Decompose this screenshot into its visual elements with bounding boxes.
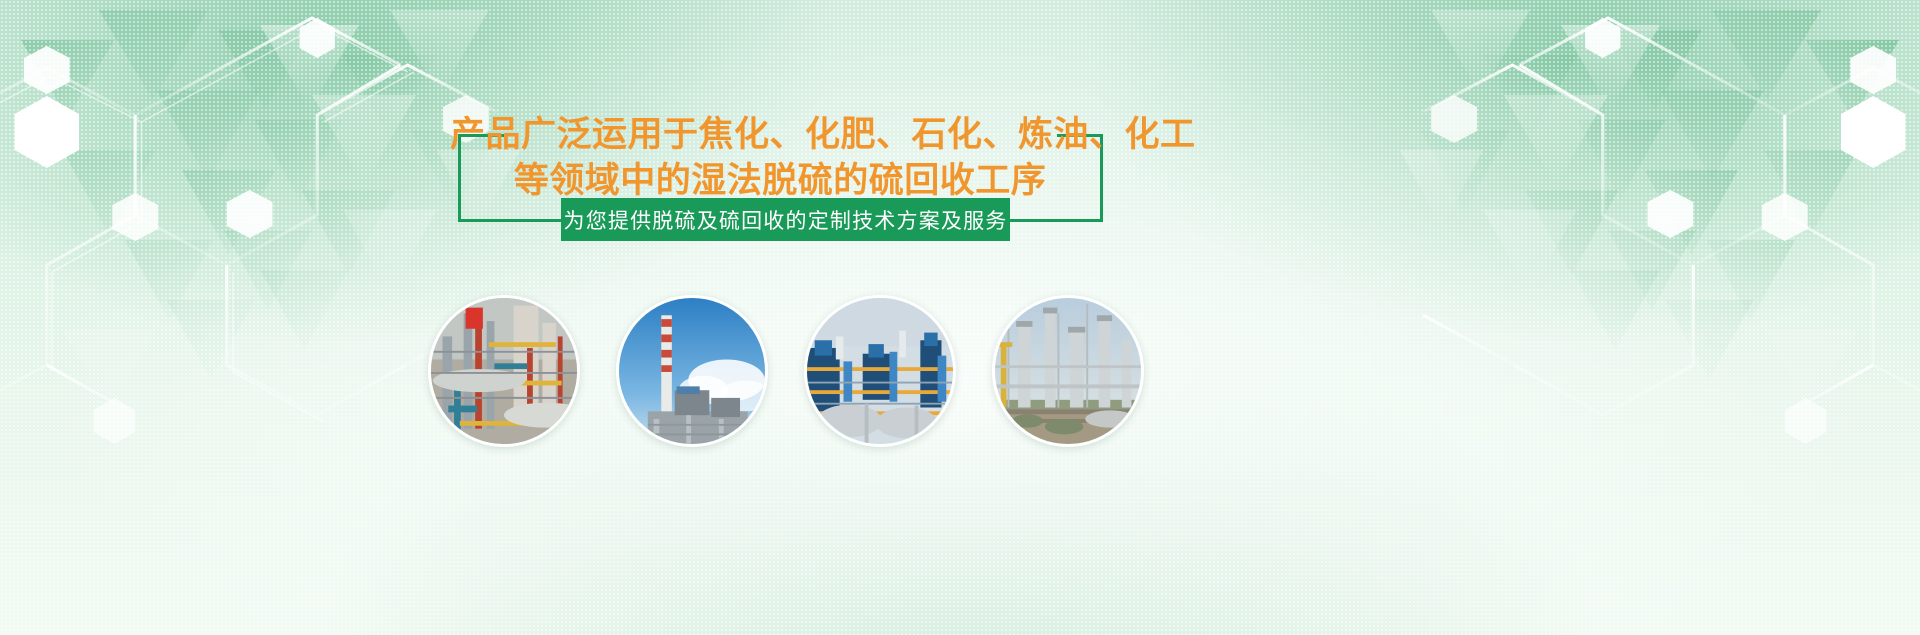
subtitle-text: 为您提供脱硫及硫回收的定制技术方案及服务	[564, 205, 1008, 235]
bracket-bottom-right-rule	[1010, 219, 1103, 222]
photo-petrochemical-towers[interactable]	[992, 295, 1144, 447]
headline: 产品广泛运用于焦化、化肥、石化、炼油、化工 等领域中的湿法脱硫的硫回收工序	[450, 112, 1110, 203]
photo-row	[0, 295, 1920, 455]
bracket-bottom-left-rule	[458, 219, 568, 222]
subtitle-bar: 为您提供脱硫及硫回收的定制技术方案及服务	[561, 198, 1010, 241]
headline-line-1: 产品广泛运用于焦化、化肥、石化、炼油、化工	[450, 115, 1196, 154]
headline-line-2: 等领域中的湿法脱硫的硫回收工序	[450, 158, 1110, 204]
photo-refinery-piping-with-flag[interactable]	[428, 295, 580, 447]
photo-desulfurization-vessels[interactable]	[804, 295, 956, 447]
banner-content: 产品广泛运用于焦化、化肥、石化、炼油、化工 等领域中的湿法脱硫的硫回收工序 为您…	[0, 0, 1920, 635]
photo-chimney-stack-blue-sky[interactable]	[616, 295, 768, 447]
hero-banner: 产品广泛运用于焦化、化肥、石化、炼油、化工 等领域中的湿法脱硫的硫回收工序 为您…	[0, 0, 1920, 635]
